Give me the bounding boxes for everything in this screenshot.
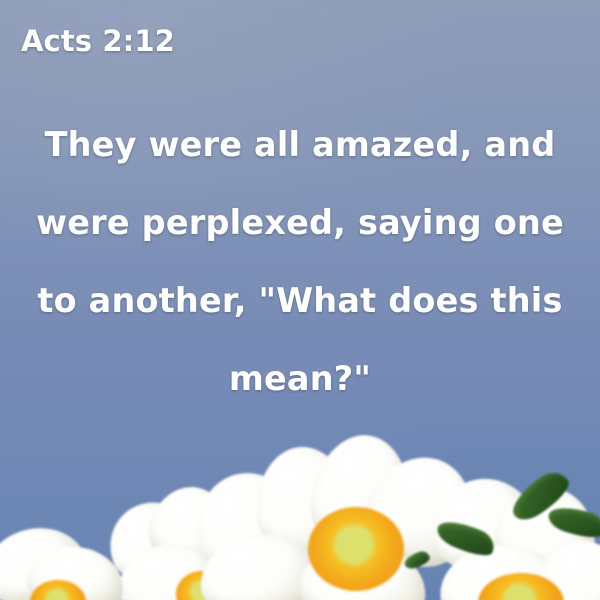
flower-center xyxy=(308,507,404,591)
scripture-reference: Acts 2:12 xyxy=(21,24,175,58)
verse-text: They were all amazed, and were perplexed… xyxy=(28,106,572,418)
verse-line-1: They were all amazed, and xyxy=(28,106,572,184)
verse-line-4: mean?" xyxy=(28,340,572,418)
verse-line-2: were perplexed, saying one xyxy=(28,184,572,262)
verse-line-3: to another, "What does this xyxy=(28,262,572,340)
verse-image-canvas: Acts 2:12 They were all amazed, and were… xyxy=(0,0,600,600)
flower-bouquet xyxy=(0,425,600,600)
